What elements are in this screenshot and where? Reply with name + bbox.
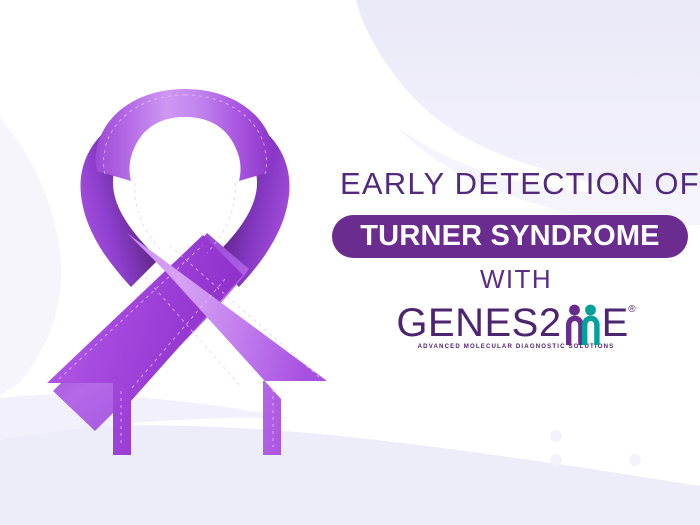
headline-line-1: EARLY DETECTION OF [340,168,692,199]
person-body-left [566,316,584,345]
poster-canvas: EARLY DETECTION OF TURNER SYNDROME WITH … [0,0,700,525]
genes2me-logo: GENES2 E® ADVANCED MOLECULAR DIAGNOSTIC … [340,296,692,350]
decor-dot [550,454,562,466]
logo-wordmark: GENES2 E® [396,296,635,342]
banner-label: TURNER SYNDROME [360,222,659,251]
ribbon-top-arch [96,89,275,181]
person-head-left [569,305,580,316]
wave-top-right [356,0,700,192]
registered-trademark-icon: ® [628,304,635,315]
logo-text-genes2: GENES2 [396,301,561,345]
ribbon-graphic [35,55,335,455]
logo-text-e: E [602,301,629,345]
two-people-m-mark-icon [561,301,603,345]
person-body-right [582,316,600,345]
decor-dot [629,454,641,466]
decor-dot [550,430,562,442]
turner-syndrome-banner: TURNER SYNDROME [332,215,688,258]
m-people-glyph [561,301,603,345]
connector-with: WITH [340,266,692,292]
person-head-right [585,305,596,316]
awareness-ribbon [35,55,335,455]
